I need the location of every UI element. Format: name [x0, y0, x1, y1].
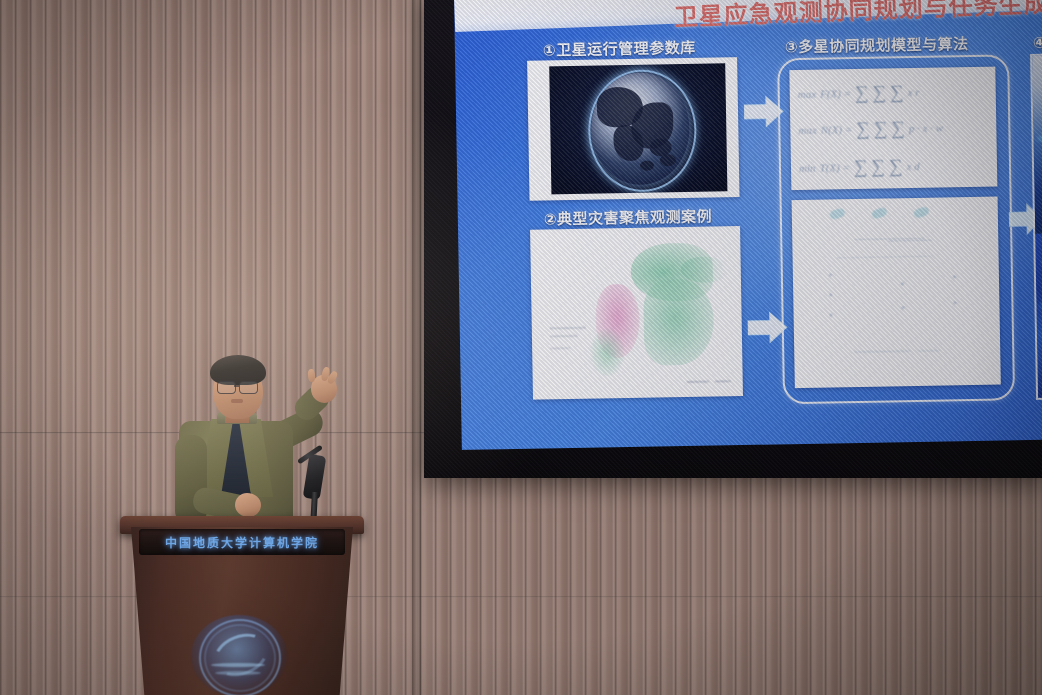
sigma-icon: ∑ — [889, 156, 903, 178]
section-label-4: ④ — [1033, 34, 1042, 52]
card-schematic — [792, 197, 1001, 389]
sigma-icon: ∑ — [872, 82, 886, 104]
formula-body: N(X) = — [821, 124, 853, 137]
speaker-mouth — [231, 399, 243, 403]
section-label-3: ③多星协同规划模型与算法 — [785, 33, 969, 57]
disaster-case-map — [534, 230, 739, 396]
university-emblem — [191, 615, 287, 695]
speaker-glasses-lens-left — [217, 381, 236, 394]
wall-vertical-trim — [412, 0, 421, 695]
section-label-1: ①卫星运行管理参数库 — [543, 37, 696, 61]
formula-body: T(X) = — [819, 162, 850, 175]
satellite-icon — [913, 206, 930, 219]
sigma-icon: ∑ — [890, 82, 904, 104]
sigma-icon: ∑ — [874, 118, 888, 140]
speaker-glasses-bridge — [234, 385, 239, 387]
formula-prefix: min — [799, 163, 816, 175]
card-section-2 — [530, 226, 743, 400]
section-label-2: ②典型灾害聚焦观测案例 — [544, 206, 713, 230]
satellite-image-top — [1032, 55, 1042, 234]
podium-body: 中国地质大学计算机学院 — [131, 527, 353, 695]
emblem-arc — [211, 663, 265, 667]
formula-prefix: max — [798, 125, 817, 137]
projection-screen: 卫星应急观测协同规划与任务生成 ①卫星运行管理参数库 ② — [424, 0, 1042, 478]
sigma-icon: ∑ — [854, 157, 868, 179]
sigma-icon: ∑ — [871, 157, 885, 179]
formula-prefix: max — [798, 89, 817, 101]
emblem-arc — [215, 671, 261, 675]
speaker-hand-gesturing — [235, 493, 261, 517]
satellite-image-bottom — [1035, 233, 1042, 398]
sigma-icon: ∑ — [855, 83, 869, 105]
formula-row: min T(X) = ∑ ∑ ∑ x d — [799, 155, 989, 180]
speaker-glasses-lens-right — [239, 381, 258, 394]
formula-body: F(X) = — [820, 88, 851, 101]
globe-image — [549, 63, 727, 194]
card-section-1 — [527, 57, 739, 201]
sigma-icon: ∑ — [856, 119, 870, 141]
formula-suffix: x d — [906, 161, 919, 173]
card-formulas: max F(X) = ∑ ∑ ∑ x r max N(X) = ∑ ∑ ∑ p … — [789, 67, 997, 191]
formula-row: max F(X) = ∑ ∑ ∑ x r — [798, 81, 988, 106]
formula-row: max N(X) = ∑ ∑ ∑ p · x · w — [798, 117, 988, 142]
formula-suffix: x r — [908, 87, 920, 99]
satellite-icon — [829, 207, 846, 220]
podium-plaque-text: 中国地质大学计算机学院 — [165, 534, 319, 551]
satellite-icon — [871, 206, 888, 219]
presentation-photo: 卫星应急观测协同规划与任务生成 ①卫星运行管理参数库 ② — [0, 0, 1042, 695]
podium-plaque: 中国地质大学计算机学院 — [139, 529, 345, 555]
slide-surface: 卫星应急观测协同规划与任务生成 ①卫星运行管理参数库 ② — [454, 0, 1042, 450]
formula-suffix: p · x · w — [909, 122, 943, 135]
slide-title: 卫星应急观测协同规划与任务生成 — [673, 0, 1042, 33]
sigma-icon: ∑ — [891, 118, 905, 140]
